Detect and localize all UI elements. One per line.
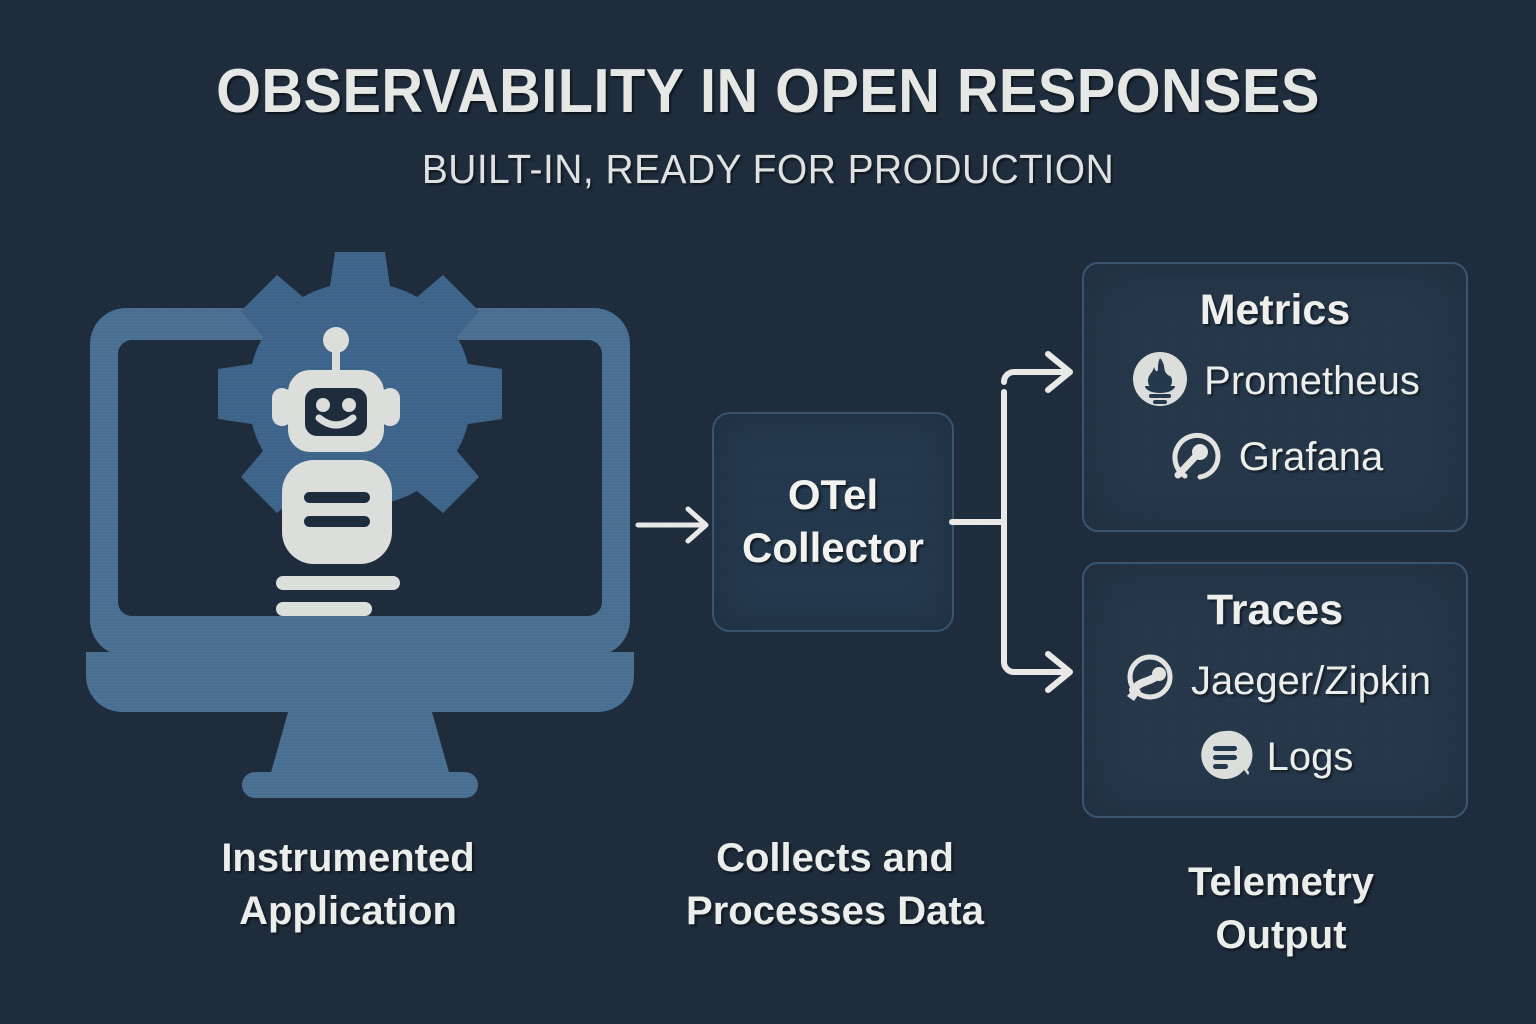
loki-logs-icon xyxy=(1197,727,1253,788)
panel-rows-metrics: Prometheus Grafana xyxy=(1084,343,1466,495)
telemetry-label-logs: Logs xyxy=(1267,735,1354,780)
telemetry-label-prometheus: Prometheus xyxy=(1204,359,1420,404)
caption-telemetry-output: Telemetry Output xyxy=(1086,856,1476,962)
caption-instrumented-application: Instrumented Application xyxy=(128,832,568,938)
caption-collect-line2: Processes Data xyxy=(686,889,984,933)
prometheus-flame-icon xyxy=(1130,349,1190,414)
arrow-collector-to-metrics xyxy=(1004,354,1070,390)
panel-title-metrics: Metrics xyxy=(1084,286,1466,335)
page-subtitle: BUILT-IN, READY FOR PRODUCTION xyxy=(38,146,1497,193)
telemetry-item-logs[interactable]: Logs xyxy=(1084,719,1466,795)
jaeger-gauge-icon xyxy=(1119,650,1177,713)
telemetry-item-grafana[interactable]: Grafana xyxy=(1084,419,1466,495)
otel-collector-line1: OTel xyxy=(788,471,878,518)
elbow-trunk xyxy=(952,392,1004,662)
telemetry-item-prometheus[interactable]: Prometheus xyxy=(1084,343,1466,419)
telemetry-item-jaeger-zipkin[interactable]: Jaeger/Zipkin xyxy=(1084,643,1466,719)
panel-rows-traces: Jaeger/Zipkin Logs xyxy=(1084,643,1466,795)
otel-collector-label: OTel Collector xyxy=(742,469,924,575)
page-title: OBSERVABILITY IN OPEN RESPONSES xyxy=(54,56,1482,127)
telemetry-label-grafana: Grafana xyxy=(1239,435,1384,480)
grafana-gauge-icon xyxy=(1167,426,1225,489)
caption-collects-and-processes-data: Collects and Processes Data xyxy=(600,832,1070,938)
caption-app-line2: Application xyxy=(239,889,457,933)
caption-collect-line1: Collects and xyxy=(716,836,954,880)
diagram-canvas: OBSERVABILITY IN OPEN RESPONSES BUILT-IN… xyxy=(0,0,1536,1024)
caption-app-line1: Instrumented xyxy=(221,836,474,880)
caption-output-line1: Telemetry xyxy=(1188,860,1374,904)
collector-branch-connectors xyxy=(944,332,1096,712)
monitor-gear-robot-graphic xyxy=(60,248,660,808)
panel-title-traces: Traces xyxy=(1084,586,1466,635)
telemetry-panel-traces[interactable]: Traces Jaeger/Zipkin xyxy=(1082,562,1468,818)
telemetry-panel-metrics[interactable]: Metrics Prometheus xyxy=(1082,262,1468,532)
otel-collector-line2: Collector xyxy=(742,524,924,571)
arrow-application-to-collector xyxy=(632,496,718,554)
otel-collector-node[interactable]: OTel Collector xyxy=(712,412,954,632)
arrow-collector-to-traces xyxy=(1004,654,1070,690)
telemetry-label-jaeger-zipkin: Jaeger/Zipkin xyxy=(1191,659,1431,704)
instrumented-application-illustration xyxy=(60,248,660,808)
caption-output-line2: Output xyxy=(1215,913,1346,957)
